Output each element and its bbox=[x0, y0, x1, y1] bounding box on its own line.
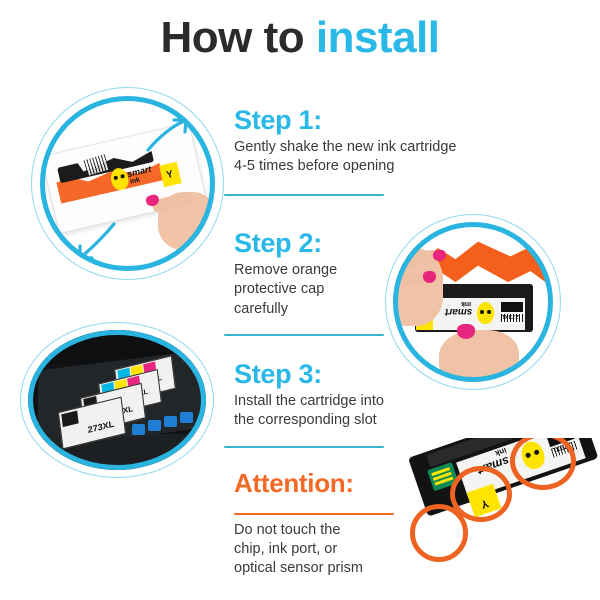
color-code: Y bbox=[165, 169, 174, 181]
step-1-text: Step 1: Gently shake the new ink cartrid… bbox=[234, 106, 534, 177]
step-1-body: Gently shake the new ink cartridge 4-5 t… bbox=[234, 138, 534, 176]
fingernail bbox=[423, 271, 436, 283]
cartridge-model-label: 273XL bbox=[87, 419, 115, 435]
step-1-photo: smart ink Y bbox=[40, 96, 215, 271]
page-title: How to install bbox=[0, 16, 600, 60]
slot-latch bbox=[148, 420, 161, 431]
brand-name: smart bbox=[445, 306, 472, 317]
step-3-divider bbox=[224, 446, 384, 448]
step-1-divider bbox=[224, 194, 384, 196]
step-3-heading: Step 3: bbox=[234, 360, 534, 388]
model-number: 273XL bbox=[501, 313, 519, 319]
up-arrow-icon bbox=[144, 112, 192, 154]
slot-latch bbox=[180, 412, 193, 423]
page-title-part2: install bbox=[316, 13, 440, 62]
slot-latch bbox=[132, 424, 145, 435]
page-title-part1: How to bbox=[160, 13, 315, 62]
label-badge bbox=[501, 302, 523, 312]
attention-photo: smart ink 273XL Y bbox=[398, 438, 600, 588]
fingernail bbox=[457, 324, 475, 339]
step-3-body: Install the cartridge into the correspon… bbox=[234, 392, 534, 430]
attention-divider bbox=[234, 513, 394, 515]
step-2-photo: Y smart ink 273XL bbox=[393, 222, 553, 382]
color-tab-yellow: Y bbox=[159, 162, 181, 187]
down-arrow-icon bbox=[74, 220, 120, 264]
infographic-page: How to install smart ink bbox=[0, 0, 600, 600]
slot-latch bbox=[164, 416, 177, 427]
step-3-text: Step 3: Install the cartridge into the c… bbox=[234, 360, 534, 431]
brand-sub: ink bbox=[461, 300, 471, 307]
warn-ring-chip bbox=[510, 438, 576, 490]
step-2-divider bbox=[224, 334, 384, 336]
warn-ring-ink-port bbox=[450, 466, 512, 522]
step-1-heading: Step 1: bbox=[234, 106, 534, 134]
smart-ink-logo bbox=[477, 302, 494, 324]
step-3-photo: 273XL 273XL 273XL 273XL bbox=[28, 330, 206, 470]
